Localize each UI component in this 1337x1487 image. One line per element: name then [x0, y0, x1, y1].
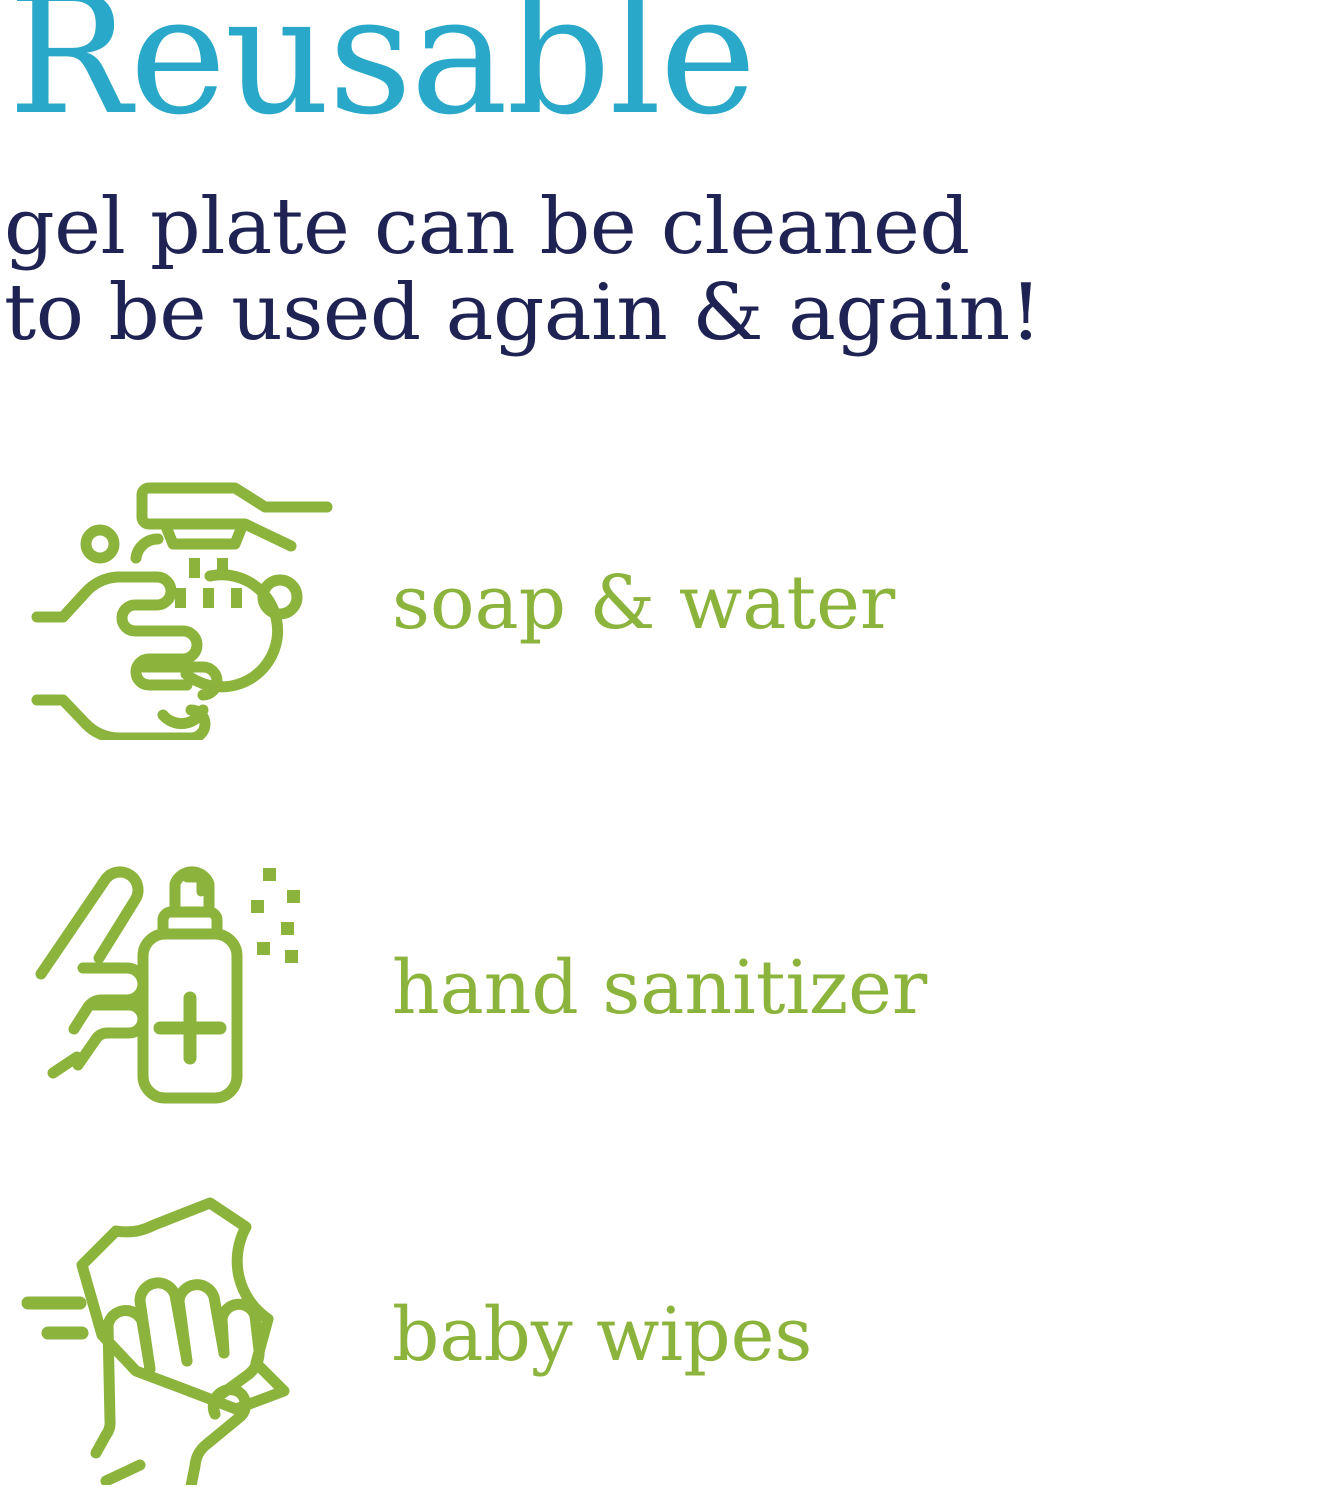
- soap-and-water-icon: [25, 460, 345, 740]
- baby-wipes-label: baby wipes: [392, 1298, 812, 1372]
- baby-wipes-icon: [20, 1185, 350, 1485]
- list-item: hand sanitizer: [0, 835, 1337, 1130]
- hand-sanitizer-icon: [35, 838, 335, 1128]
- product-infographic: Reusable gel plate can be cleaned to be …: [0, 0, 1337, 1487]
- cleaning-methods-list: soap & water: [0, 0, 1337, 1487]
- soap-and-water-label-cell: soap & water: [370, 452, 895, 748]
- hand-sanitizer-icon-cell: [0, 835, 370, 1130]
- list-item: soap & water: [0, 455, 1337, 745]
- hand-sanitizer-label: hand sanitizer: [392, 951, 927, 1025]
- soap-and-water-icon-cell: [0, 455, 370, 745]
- baby-wipes-icon-cell: [0, 1185, 370, 1485]
- baby-wipes-label-cell: baby wipes: [370, 1185, 812, 1485]
- soap-and-water-label: soap & water: [392, 566, 895, 640]
- hand-sanitizer-label-cell: hand sanitizer: [370, 830, 927, 1135]
- list-item: baby wipes: [0, 1185, 1337, 1485]
